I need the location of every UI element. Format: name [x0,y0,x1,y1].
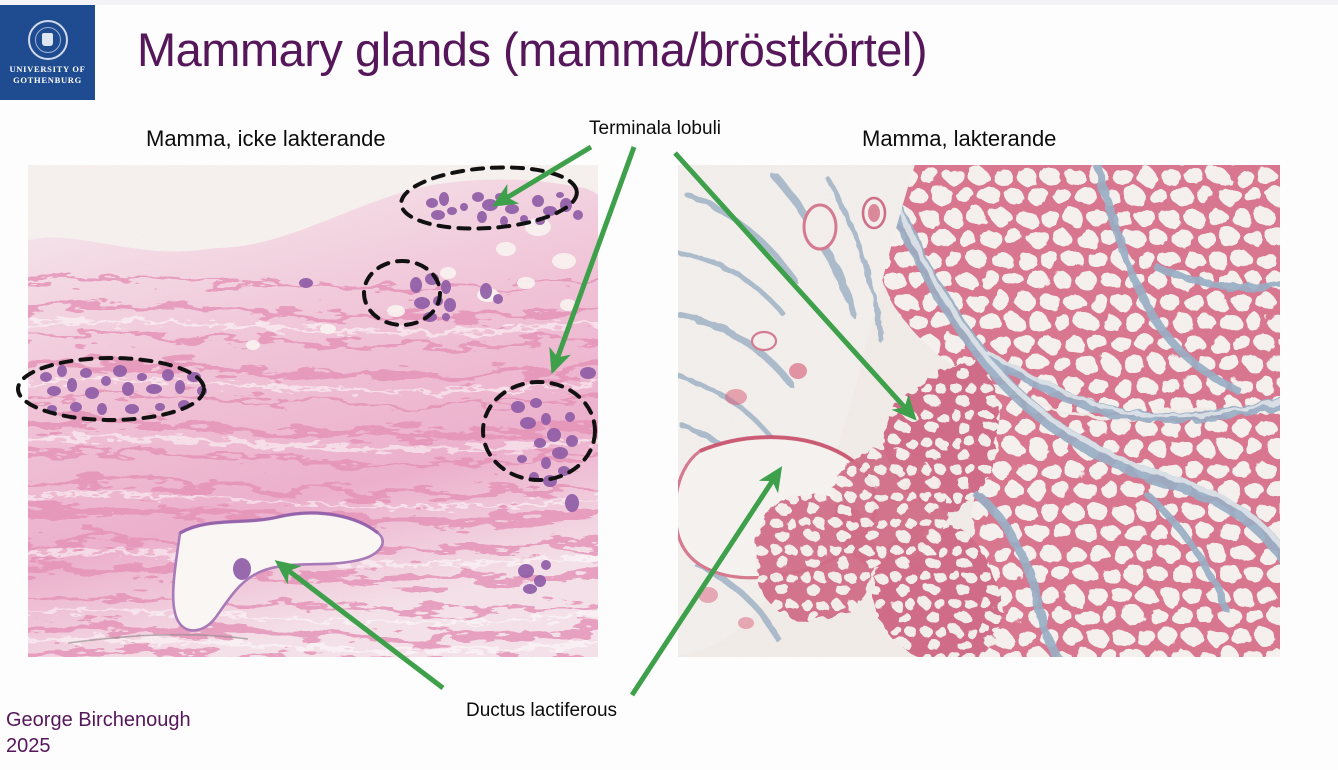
lactating-mammary-gland-image [678,165,1280,657]
author-name: George Birchenough [6,707,191,733]
label-ductus-lactiferous: Ductus lactiferous [466,700,617,722]
slide-top-border [0,0,1338,5]
slide: UNIVERSITY OF GOTHENBURG Mammary glands … [0,0,1338,770]
logo-line-1: UNIVERSITY OF [9,64,85,75]
logo-line-2: GOTHENBURG [9,75,85,86]
caption-lactating: Mamma, lakterande [862,126,1056,152]
university-logo: UNIVERSITY OF GOTHENBURG [0,5,95,100]
author-block: George Birchenough 2025 [6,707,191,759]
caption-non-lactating: Mamma, icke lakterande [146,126,386,152]
label-terminala-lobuli: Terminala lobuli [589,118,721,140]
university-seal-icon [28,20,68,60]
slide-title: Mammary glands (mamma/bröstkörtel) [137,22,927,77]
author-year: 2025 [6,733,191,759]
non-lactating-mammary-gland-image [28,165,598,657]
